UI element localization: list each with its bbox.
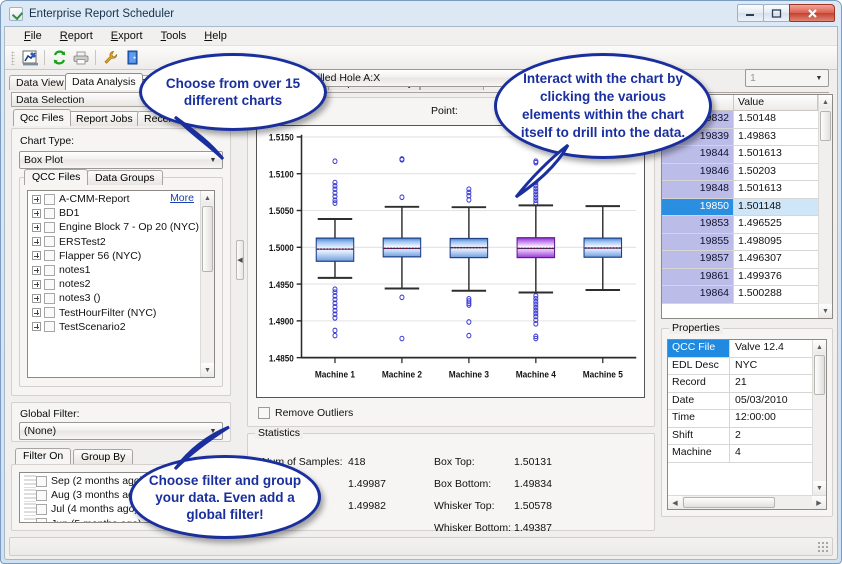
table-row[interactable]: 198571.496307 (662, 251, 832, 269)
menu-item-export[interactable]: Export (102, 28, 152, 44)
table-row[interactable]: 198501.501148 (662, 199, 832, 217)
cell-part-id: 19861 (662, 269, 734, 286)
list-item[interactable]: BD1 (28, 206, 214, 220)
stat-value-whisker-top: 1.50578 (514, 500, 552, 512)
close-button[interactable] (789, 4, 835, 22)
subtab-report-jobs[interactable]: Report Jobs (69, 111, 140, 126)
filtertab-group-by[interactable]: Group By (73, 449, 133, 464)
property-row[interactable]: QCC FileValve 12.4 (668, 340, 826, 358)
list-item-checkbox[interactable] (44, 293, 55, 304)
properties-body: QCC FileValve 12.4EDL DescNYCRecord21Dat… (668, 340, 826, 463)
property-row[interactable]: Date05/03/2010 (668, 393, 826, 411)
list-item[interactable]: TestHourFilter (NYC) (28, 306, 214, 320)
svg-text:Machine 1: Machine 1 (315, 369, 355, 380)
maximize-button[interactable] (763, 4, 790, 22)
table-row[interactable]: 198611.499376 (662, 269, 832, 287)
svg-text:1.5000: 1.5000 (269, 243, 294, 254)
list-item[interactable]: notes1 (28, 263, 214, 277)
callout-charts: Choose from over 15 different charts (139, 53, 327, 131)
list-item-label: ERSTest2 (59, 236, 106, 248)
scroll-right-icon[interactable]: ▶ (812, 496, 826, 509)
list-item-checkbox[interactable] (44, 279, 55, 290)
remove-outliers-row[interactable]: Remove Outliers (258, 407, 353, 419)
window-controls (738, 4, 835, 22)
list-item[interactable]: notes3 () (28, 291, 214, 305)
stat-value-box-top: 1.50131 (514, 456, 552, 468)
grid-header-value[interactable]: Value (734, 95, 818, 110)
cell-part-id: 19857 (662, 251, 734, 268)
properties-group: Properties QCC FileValve 12.4EDL DescNYC… (661, 328, 833, 517)
stat-value-mean: 1.49987 (348, 478, 386, 490)
filter-item-checkbox[interactable] (36, 476, 47, 487)
qcc-scrollbar-vertical[interactable]: ▲ ▼ (200, 191, 214, 377)
callout-charts-bubble: Choose from over 15 different charts (139, 53, 327, 131)
cell-part-id: 19846 (662, 164, 734, 181)
properties-scrollbar-horizontal[interactable]: ◀ ▶ (668, 495, 826, 509)
point-label: Point: (431, 105, 458, 117)
app-icon (9, 7, 23, 21)
property-key: Record (668, 375, 730, 392)
splitter-collapse-handle[interactable]: ◀ (236, 240, 244, 280)
scroll-up-icon-4[interactable]: ▲ (813, 340, 826, 354)
list-item-checkbox[interactable] (44, 250, 55, 261)
stat-value-num-samples: 418 (348, 456, 366, 468)
expand-plus-icon[interactable] (32, 294, 41, 303)
refresh-icon[interactable] (48, 48, 70, 68)
list-item-label: BD1 (59, 207, 79, 219)
properties-scrollbar-vertical[interactable]: ▲ ▼ (812, 340, 826, 495)
svg-text:1.5050: 1.5050 (269, 206, 294, 217)
innertab-data-groups[interactable]: Data Groups (87, 170, 163, 185)
tree-line (24, 488, 36, 502)
title-bar: Enterprise Report Scheduler (3, 3, 839, 25)
property-row[interactable]: Time12:00:00 (668, 410, 826, 428)
filter-item-label: Jul (4 months ago) (51, 503, 138, 515)
table-row[interactable]: 198461.50203 (662, 164, 832, 182)
list-item[interactable]: Flapper 56 (NYC) (28, 249, 214, 263)
qcc-inner-tabs: QCC Files Data Groups (24, 169, 222, 185)
callout-filter: Choose filter and group your data. Even … (129, 455, 321, 539)
subtab-qcc-files[interactable]: Qcc Files (13, 109, 71, 126)
property-row[interactable]: EDL DescNYC (668, 358, 826, 376)
expand-plus-icon[interactable] (32, 322, 41, 331)
properties-grid[interactable]: QCC FileValve 12.4EDL DescNYCRecord21Dat… (667, 339, 827, 510)
stat-value-median: 1.49982 (348, 500, 386, 512)
tree-line (24, 517, 36, 523)
table-row[interactable]: 198531.496525 (662, 216, 832, 234)
list-item-checkbox[interactable] (44, 307, 55, 318)
filter-item-checkbox[interactable] (36, 518, 47, 523)
page-spinner[interactable]: 1 ▼ (745, 69, 829, 87)
stat-label-box-bottom: Box Bottom: (434, 478, 491, 490)
global-filter-label: Global Filter: (20, 408, 80, 420)
expand-plus-icon[interactable] (32, 266, 41, 275)
svg-text:1.4900: 1.4900 (269, 316, 294, 327)
statistics-title: Statistics (255, 427, 303, 439)
list-item-label: notes3 () (59, 292, 100, 304)
cell-part-id: 19848 (662, 181, 734, 198)
filter-item-checkbox[interactable] (36, 504, 47, 515)
table-row[interactable]: 198641.500288 (662, 286, 832, 304)
toolbar-grip[interactable] (11, 51, 15, 65)
list-item[interactable]: Engine Block 7 - Op 20 (NYC) (28, 220, 214, 234)
minimize-button[interactable] (737, 4, 764, 22)
expand-plus-icon[interactable] (32, 237, 41, 246)
stat-value-whisker-bottom: 1.49387 (514, 522, 552, 534)
svg-text:Machine 5: Machine 5 (583, 369, 623, 380)
list-item-label: Flapper 56 (NYC) (59, 250, 141, 262)
menu-item-tools[interactable]: Tools (152, 28, 196, 44)
svg-text:Machine 4: Machine 4 (516, 369, 556, 380)
list-item[interactable]: TestScenario2 (28, 320, 214, 334)
properties-title: Properties (669, 322, 723, 334)
list-item-checkbox[interactable] (44, 194, 55, 205)
expand-plus-icon[interactable] (32, 223, 41, 232)
list-item[interactable]: ERSTest2 (28, 235, 214, 249)
property-key: Date (668, 393, 730, 410)
property-row[interactable]: Shift2 (668, 428, 826, 446)
menu-item-report[interactable]: Report (51, 28, 102, 44)
list-item-label: notes2 (59, 278, 91, 290)
toolbar-separator-2 (95, 50, 96, 65)
list-item-label: TestHourFilter (NYC) (59, 307, 156, 319)
cell-part-id: 19853 (662, 216, 734, 233)
table-row[interactable]: 198551.498095 (662, 234, 832, 252)
list-item-checkbox[interactable] (44, 265, 55, 276)
list-item[interactable]: notes2 (28, 277, 214, 291)
svg-text:1.4950: 1.4950 (269, 279, 294, 290)
property-key: Machine (668, 445, 730, 462)
list-item-label: notes1 (59, 264, 91, 276)
property-key: Time (668, 410, 730, 427)
svg-text:Machine 3: Machine 3 (449, 369, 489, 380)
stat-label-box-top: Box Top: (434, 456, 475, 468)
scroll-thumb-3[interactable] (820, 111, 831, 141)
filtertab-filter-on[interactable]: Filter On (15, 448, 71, 464)
property-key: QCC File (668, 340, 730, 357)
chart-type-label: Chart Type: (20, 135, 74, 147)
more-link-qcc[interactable]: More (170, 192, 194, 204)
tab-data-analysis[interactable]: Data Analysis (65, 73, 143, 90)
scroll-down-icon-3[interactable]: ▼ (819, 304, 832, 318)
tree-line (24, 474, 36, 488)
list-item-checkbox[interactable] (44, 222, 55, 233)
expand-plus-icon[interactable] (32, 195, 41, 204)
filter-item-checkbox[interactable] (36, 490, 47, 501)
list-item-label: A-CMM-Report (59, 193, 130, 205)
scroll-left-icon[interactable]: ◀ (668, 496, 682, 509)
callout-interact: Interact with the chart by clicking the … (494, 53, 712, 159)
qcc-files-group: Chart Type: Box Plot ▼ QCC Files Data Gr… (11, 128, 231, 396)
stat-label-whisker-bottom: Whisker Bottom: (434, 522, 511, 534)
qcc-inner-group: QCC Files Data Groups More A-CMM-ReportB… (19, 177, 223, 387)
filter-item-label: Jun (5 months ago) (51, 518, 141, 523)
chart-icon[interactable] (19, 48, 41, 68)
wrench-icon[interactable] (99, 48, 121, 68)
qcc-files-listbox[interactable]: More A-CMM-ReportBD1Engine Block 7 - Op … (27, 190, 215, 378)
application-window: Enterprise Report Scheduler FFileile Rep… (0, 0, 842, 564)
expand-plus-icon[interactable] (32, 209, 41, 218)
status-bar (9, 537, 833, 556)
cell-part-id: 19850 (662, 199, 734, 216)
qcc-file-list: A-CMM-ReportBD1Engine Block 7 - Op 20 (N… (28, 191, 214, 334)
expand-plus-icon[interactable] (32, 280, 41, 289)
property-row[interactable]: Machine4 (668, 445, 826, 463)
innertab-qcc-files[interactable]: QCC Files (24, 169, 88, 185)
tab-data-view[interactable]: Data View (9, 75, 71, 90)
list-item-label: Engine Block 7 - Op 20 (NYC) (59, 221, 199, 233)
menu-item-help[interactable]: Help (195, 28, 236, 44)
svg-text:1.4850: 1.4850 (269, 353, 294, 364)
grid-scrollbar-vertical[interactable]: ▲ ▼ (818, 95, 832, 318)
cell-part-id: 19855 (662, 234, 734, 251)
scroll-thumb[interactable] (202, 206, 213, 272)
svg-text:1.5100: 1.5100 (269, 169, 294, 180)
remove-outliers-checkbox[interactable] (258, 407, 270, 419)
list-item-checkbox[interactable] (44, 236, 55, 247)
list-item-label: TestScenario2 (59, 321, 126, 333)
expand-plus-icon[interactable] (32, 251, 41, 260)
menu-bar: FFileile Report Export Tools Help (5, 27, 837, 46)
scroll-up-icon-3[interactable]: ▲ (819, 95, 832, 109)
stat-label-whisker-top: Whisker Top: (434, 500, 495, 512)
svg-text:Machine 2: Machine 2 (382, 369, 422, 380)
table-row[interactable]: 198481.501613 (662, 181, 832, 199)
expand-plus-icon[interactable] (32, 308, 41, 317)
property-key: EDL Desc (668, 358, 730, 375)
box-plot-canvas[interactable]: 1.48501.49001.49501.50001.50501.51001.51… (256, 125, 645, 398)
toolbar-separator (44, 50, 45, 65)
scroll-down-icon[interactable]: ▼ (201, 363, 214, 377)
print-icon[interactable] (70, 48, 92, 68)
cell-part-id: 19864 (662, 286, 734, 303)
scroll-down-icon-4[interactable]: ▼ (813, 481, 826, 495)
tree-line (24, 502, 36, 516)
scroll-up-icon[interactable]: ▲ (201, 191, 214, 205)
toolbar (5, 46, 837, 70)
list-item-checkbox[interactable] (44, 321, 55, 332)
window-title: Enterprise Report Scheduler (29, 8, 174, 20)
scroll-thumb-4[interactable] (814, 355, 825, 395)
chevron-down-icon-2: ▼ (812, 75, 826, 82)
property-key: Shift (668, 428, 730, 445)
scroll-thumb-h[interactable] (683, 497, 775, 508)
list-item-checkbox[interactable] (44, 208, 55, 219)
menu-item-file[interactable]: FFileile (15, 28, 51, 44)
remove-outliers-label: Remove Outliers (275, 407, 353, 419)
property-row[interactable]: Record21 (668, 375, 826, 393)
stat-value-box-bottom: 1.49834 (514, 478, 552, 490)
resize-grip[interactable] (817, 541, 829, 553)
svg-text:1.5150: 1.5150 (269, 132, 294, 143)
